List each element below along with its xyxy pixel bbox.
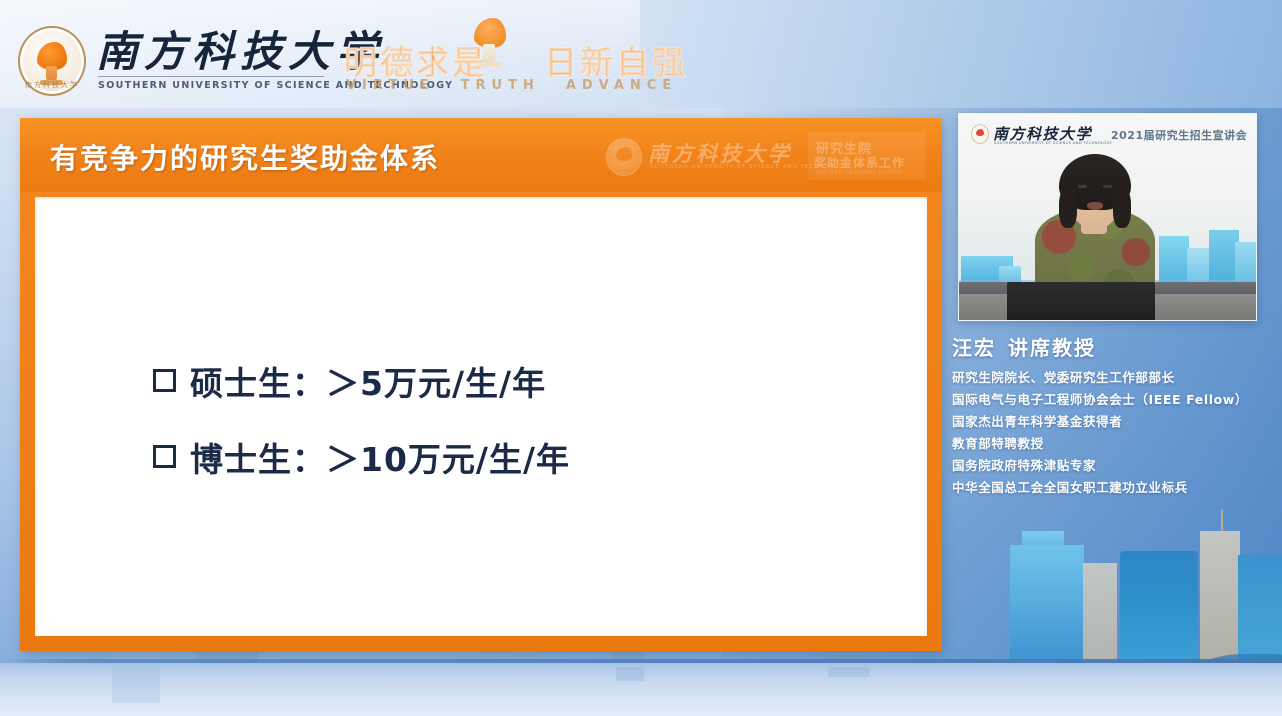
video-seal-flame-shape	[976, 129, 984, 136]
video-building-4	[1187, 248, 1211, 282]
orange-torch-flame-icon	[470, 18, 508, 72]
watermark-flame-shape	[616, 147, 632, 161]
reflection-shape-1	[616, 667, 644, 681]
checkbox-bullet-icon	[153, 445, 176, 468]
motto-en-3: ADVANCE	[566, 78, 677, 93]
watermark-badge: 研究生院 奖助金体系工作 SUSTECH GRADUATE SCHOOL	[808, 132, 926, 180]
building-shape-2	[1083, 563, 1117, 663]
list-item: 博士生：＞10万元/生/年	[153, 433, 570, 481]
university-motto: 明德求是日新自强 VIRTUETRUTHADVANCE	[344, 36, 634, 80]
speaker-info-panel: 汪宏讲席教授 研究生院院长、党委研究生工作部部长 国际电气与电子工程师协会会士（…	[952, 332, 1272, 499]
reflection-shape-2	[828, 667, 870, 677]
speaker-video-panel[interactable]: 南方科技大学 SOUTHERN UNIVERSITY OF SCIENCE AN…	[958, 113, 1257, 321]
page-header: 南方科技大学 南方科技大学 SOUTHERN UNIVERSITY OF SCI…	[0, 0, 1282, 108]
speaker-eye-left	[1078, 185, 1087, 188]
speaker-title: 讲席教授	[1008, 336, 1096, 360]
video-overlay-seal-icon	[971, 124, 989, 144]
flame-base	[477, 62, 501, 67]
speaker-credential: 国家杰出青年科学基金获得者	[952, 411, 1272, 433]
speaker-credential: 研究生院院长、党委研究生工作部部长	[952, 367, 1272, 389]
watermark-badge-line3: SUSTECH GRADUATE SCHOOL	[816, 170, 903, 176]
video-building-6	[1235, 242, 1256, 282]
building-antenna-icon	[1221, 509, 1223, 531]
speaker-hair-right	[1113, 188, 1131, 228]
emblem-seal-text: 南方科技大学	[18, 80, 86, 90]
reflection-shape-3	[112, 667, 160, 703]
watermark-badge-line2: 奖助金体系工作	[814, 154, 905, 171]
slide-title-bar: 有竞争力的研究生奖助金体系 南方科技大学 SOUTHERN UNIVERSITY…	[20, 118, 942, 192]
sustech-seal-watermark-icon: 南方科技大学 SOUTHERN UNIVERSITY OF SCIENCE AN…	[600, 130, 930, 182]
building-shape-3	[1120, 551, 1198, 663]
sustech-torch-seal-icon: 南方科技大学	[18, 26, 86, 96]
slide-title: 有竞争力的研究生奖助金体系	[50, 137, 440, 177]
speaker-credential: 教育部特聘教授	[952, 433, 1272, 455]
motto-text-en: VIRTUETRUTHADVANCE	[346, 78, 677, 93]
list-item-label: 硕士生：＞5万元/生/年	[190, 364, 546, 403]
speaker-credential: 国务院政府特殊津贴专家	[952, 455, 1272, 477]
speaker-hair-left	[1059, 188, 1077, 228]
building-shape-5	[1238, 555, 1282, 663]
video-building-3	[1159, 236, 1189, 282]
video-overlay-title: 2021届研究生招生宣讲会	[1111, 127, 1247, 143]
university-name-cn: 南方科技大学	[96, 28, 384, 76]
building-shape-1-top	[1022, 531, 1064, 545]
video-overlay-logo-en: SOUTHERN UNIVERSITY OF SCIENCE AND TECHN…	[994, 141, 1112, 145]
speaker-eye-right	[1103, 185, 1112, 188]
motto-cn-right: 日新自强	[544, 43, 688, 82]
speaker-credential: 中华全国总工会全国女职工建功立业标兵	[952, 477, 1272, 499]
speaker-credential: 国际电气与电子工程师协会会士（IEEE Fellow）	[952, 389, 1272, 411]
list-item: 硕士生：＞5万元/生/年	[153, 357, 570, 405]
university-name-underline	[98, 76, 324, 77]
motto-en-2: TRUTH	[461, 78, 540, 93]
slide-content-area: 硕士生：＞5万元/生/年 博士生：＞10万元/生/年	[35, 197, 927, 636]
slide-frame: 有竞争力的研究生奖助金体系 南方科技大学 SOUTHERN UNIVERSITY…	[20, 118, 942, 651]
presentation-screen: 南方科技大学 南方科技大学 SOUTHERN UNIVERSITY OF SCI…	[0, 0, 1282, 716]
laptop-icon	[1007, 282, 1155, 320]
watermark-seal-ring	[606, 138, 642, 176]
checkbox-bullet-icon	[153, 369, 176, 392]
list-item-label: 博士生：＞10万元/生/年	[190, 440, 570, 479]
speaker-mouth	[1087, 202, 1103, 210]
speaker-name: 汪宏	[952, 336, 996, 360]
building-shape-1	[1010, 545, 1084, 663]
slide-bullet-list: 硕士生：＞5万元/生/年 博士生：＞10万元/生/年	[153, 357, 570, 509]
building-shape-4	[1200, 531, 1240, 663]
motto-cn-left: 明德求是	[344, 43, 488, 82]
flame-stem	[483, 44, 495, 64]
speaker-name-line: 汪宏讲席教授	[952, 332, 1272, 361]
motto-en-1: VIRTUE	[346, 78, 435, 93]
motto-text-cn: 明德求是日新自强	[344, 36, 688, 84]
